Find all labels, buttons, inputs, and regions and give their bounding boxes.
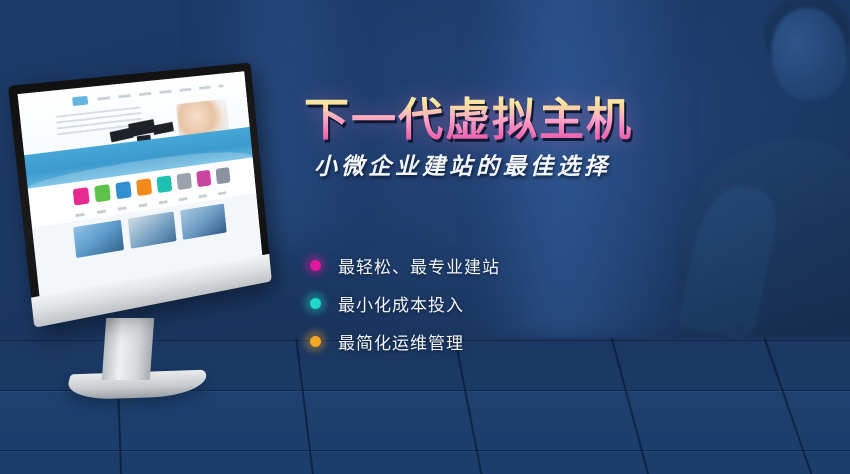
page-subtitle: 小微企业建站的最佳选择 (300, 147, 830, 181)
list-item: 最轻松、最专业建站 (300, 246, 500, 284)
feature-label: 最轻松、最专业建站 (330, 253, 500, 278)
promo-banner: 下一代虚拟主机 小微企业建站的最佳选择 最轻松、最专业建站 最小化成本投入 最简… (0, 0, 850, 474)
app-icon (136, 178, 152, 196)
app-icon (216, 167, 231, 184)
bullet-dot-orange (310, 336, 321, 347)
website-thumbnail (128, 211, 177, 248)
feature-label: 最小化成本投入 (330, 291, 464, 316)
bullet-dot-teal (310, 298, 321, 309)
app-icon (94, 184, 111, 202)
page-title: 下一代虚拟主机 (300, 96, 830, 143)
website-nav (97, 84, 223, 100)
list-item: 最小化成本投入 (300, 284, 500, 322)
feature-list: 最轻松、最专业建站 最小化成本投入 最简化运维管理 (300, 246, 500, 360)
app-icon (115, 181, 131, 199)
imac-screen-bezel (8, 62, 272, 327)
list-item: 最简化运维管理 (300, 322, 500, 360)
app-icon (73, 187, 90, 206)
website-logo (72, 96, 88, 106)
app-icon (196, 170, 211, 187)
headline-block: 下一代虚拟主机 小微企业建站的最佳选择 (300, 96, 830, 181)
website-thumbnail (73, 220, 124, 258)
website-thumbnail (180, 204, 227, 240)
feature-label: 最简化运维管理 (330, 329, 464, 354)
imac-computer (8, 86, 296, 416)
app-icon (176, 173, 192, 191)
bullet-dot-magenta (310, 260, 321, 271)
floor-seam-horizontal (0, 450, 850, 451)
imac-stand-neck (102, 318, 154, 380)
app-icon (156, 175, 172, 193)
